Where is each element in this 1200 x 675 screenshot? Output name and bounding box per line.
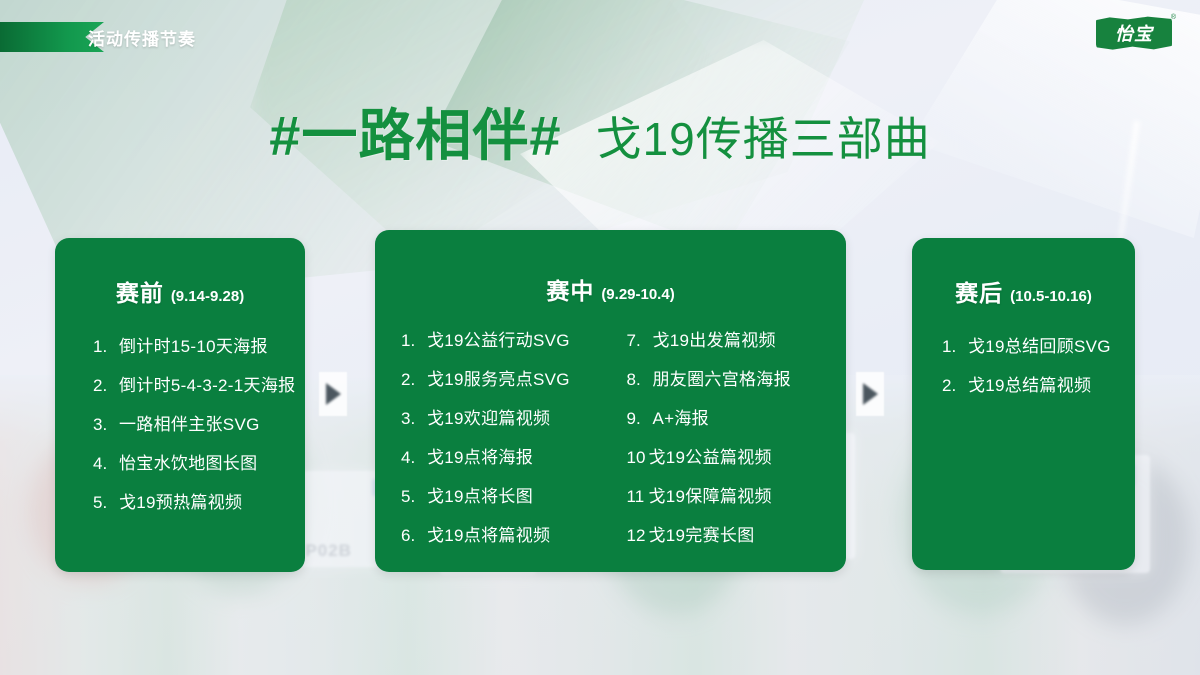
list-item[interactable]: 9. A+海报 (627, 410, 847, 427)
card-post-race-date: (10.5-10.16) (1010, 288, 1092, 305)
list-item[interactable]: 8. 朋友圈六宫格海报 (627, 371, 847, 388)
card-pre-race-date: (9.14-9.28) (171, 288, 244, 305)
list-item-number: 3. (401, 410, 423, 427)
list-item-label: 戈19公益行动SVG (427, 332, 570, 349)
list-item[interactable]: 11 戈19保障篇视频 (627, 488, 847, 505)
list-item-label: 朋友圈六宫格海报 (653, 371, 791, 388)
list-item-label: 戈19完赛长图 (649, 527, 755, 544)
list-item-number: 12 (627, 527, 649, 544)
list-item[interactable]: 1. 倒计时15-10天海报 (93, 338, 305, 355)
list-item-number: 1. (401, 332, 423, 349)
list-item-number: 3. (93, 416, 115, 433)
list-item-number: 10 (627, 449, 649, 466)
card-during-race-body: 1. 戈19公益行动SVG 2. 戈19服务亮点SVG 3. 戈19欢迎篇视频 … (375, 306, 846, 566)
list-item-label: 戈19总结篇视频 (968, 377, 1091, 394)
deliverable-list: 1. 戈19总结回顾SVG 2. 戈19总结篇视频 (912, 338, 1135, 394)
ribbon-label: 活动传播节奏 (88, 25, 196, 50)
list-item-label: 戈19出发篇视频 (653, 332, 776, 349)
card-during-race-date: (9.29-10.4) (601, 286, 674, 303)
list-item-label: 戈19总结回顾SVG (968, 338, 1111, 355)
list-item[interactable]: 5. 戈19点将长图 (401, 488, 611, 505)
logo-text: 怡宝 (1096, 16, 1172, 50)
card-post-race[interactable]: 赛后 (10.5-10.16) 1. 戈19总结回顾SVG 2. 戈19总结篇视… (912, 238, 1135, 570)
list-item-number: 2. (401, 371, 423, 388)
list-item[interactable]: 4. 怡宝水饮地图长图 (93, 455, 305, 472)
list-item-number: 4. (93, 455, 115, 472)
list-item-number: 11 (627, 488, 649, 505)
phase-cards: 赛前 (9.14-9.28) 1. 倒计时15-10天海报 2. 倒计时5-4-… (0, 0, 1200, 675)
arrow-right-icon (319, 372, 347, 416)
list-item-number: 8. (627, 371, 649, 388)
list-item[interactable]: 12 戈19完赛长图 (627, 527, 847, 544)
list-item[interactable]: 3. 戈19欢迎篇视频 (401, 410, 611, 427)
list-item-number: 1. (942, 338, 964, 355)
logo-trademark: ® (1171, 14, 1176, 21)
list-item-number: 5. (93, 494, 115, 511)
list-item[interactable]: 1. 戈19总结回顾SVG (942, 338, 1135, 355)
list-item-number: 1. (93, 338, 115, 355)
list-item[interactable]: 6. 戈19点将篇视频 (401, 527, 611, 544)
brand-logo: 怡宝 ® (1096, 16, 1172, 50)
list-item[interactable]: 1. 戈19公益行动SVG (401, 332, 611, 349)
list-item-number: 6. (401, 527, 423, 544)
header-ribbon: 活动传播节奏 (0, 22, 172, 52)
card-pre-race-header: 赛前 (9.14-9.28) (55, 238, 305, 308)
deliverable-column-left: 1. 戈19公益行动SVG 2. 戈19服务亮点SVG 3. 戈19欢迎篇视频 … (375, 332, 611, 566)
list-item-label: 怡宝水饮地图长图 (119, 455, 257, 472)
list-item[interactable]: 2. 倒计时5-4-3-2-1天海报 (93, 377, 305, 394)
list-item-label: 戈19预热篇视频 (119, 494, 242, 511)
list-item-label: 倒计时5-4-3-2-1天海报 (119, 377, 295, 394)
card-post-race-body: 1. 戈19总结回顾SVG 2. 戈19总结篇视频 (912, 308, 1135, 394)
card-pre-race-phase: 赛前 (116, 274, 164, 308)
arrow-chevron (863, 383, 878, 405)
deliverable-list: 7. 戈19出发篇视频 8. 朋友圈六宫格海报 9. A+海报 10 戈19公益… (627, 332, 847, 544)
list-item-label: 戈19欢迎篇视频 (427, 410, 550, 427)
list-item[interactable]: 7. 戈19出发篇视频 (627, 332, 847, 349)
arrow-chevron (326, 383, 341, 405)
card-during-race[interactable]: 赛中 (9.29-10.4) 1. 戈19公益行动SVG 2. 戈19服务亮点S… (375, 230, 846, 572)
list-item-label: 戈19点将海报 (427, 449, 533, 466)
list-item[interactable]: 2. 戈19总结篇视频 (942, 377, 1135, 394)
card-during-race-header: 赛中 (9.29-10.4) (375, 230, 846, 306)
card-during-race-phase: 赛中 (546, 272, 594, 306)
card-post-race-header: 赛后 (10.5-10.16) (912, 238, 1135, 308)
deliverable-list: 1. 倒计时15-10天海报 2. 倒计时5-4-3-2-1天海报 3. 一路相… (55, 338, 305, 511)
card-pre-race[interactable]: 赛前 (9.14-9.28) 1. 倒计时15-10天海报 2. 倒计时5-4-… (55, 238, 305, 572)
list-item[interactable]: 10 戈19公益篇视频 (627, 449, 847, 466)
list-item-label: 戈19点将篇视频 (427, 527, 550, 544)
list-item-label: 倒计时15-10天海报 (119, 338, 268, 355)
list-item[interactable]: 3. 一路相伴主张SVG (93, 416, 305, 433)
list-item-number: 2. (942, 377, 964, 394)
list-item[interactable]: 2. 戈19服务亮点SVG (401, 371, 611, 388)
list-item[interactable]: 5. 戈19预热篇视频 (93, 494, 305, 511)
list-item-label: 戈19服务亮点SVG (427, 371, 570, 388)
list-item-label: 戈19点将长图 (427, 488, 533, 505)
list-item-label: 一路相伴主张SVG (119, 416, 260, 433)
list-item-number: 2. (93, 377, 115, 394)
card-pre-race-body: 1. 倒计时15-10天海报 2. 倒计时5-4-3-2-1天海报 3. 一路相… (55, 308, 305, 511)
list-item-label: A+海报 (653, 410, 709, 427)
list-item-label: 戈19公益篇视频 (649, 449, 772, 466)
deliverable-column-right: 7. 戈19出发篇视频 8. 朋友圈六宫格海报 9. A+海报 10 戈19公益… (611, 332, 847, 566)
list-item-label: 戈19保障篇视频 (649, 488, 772, 505)
card-post-race-phase: 赛后 (955, 274, 1003, 308)
list-item-number: 4. (401, 449, 423, 466)
list-item-number: 5. (401, 488, 423, 505)
arrow-right-icon (856, 372, 884, 416)
deliverable-list: 1. 戈19公益行动SVG 2. 戈19服务亮点SVG 3. 戈19欢迎篇视频 … (401, 332, 611, 544)
list-item[interactable]: 4. 戈19点将海报 (401, 449, 611, 466)
list-item-number: 9. (627, 410, 649, 427)
list-item-number: 7. (627, 332, 649, 349)
